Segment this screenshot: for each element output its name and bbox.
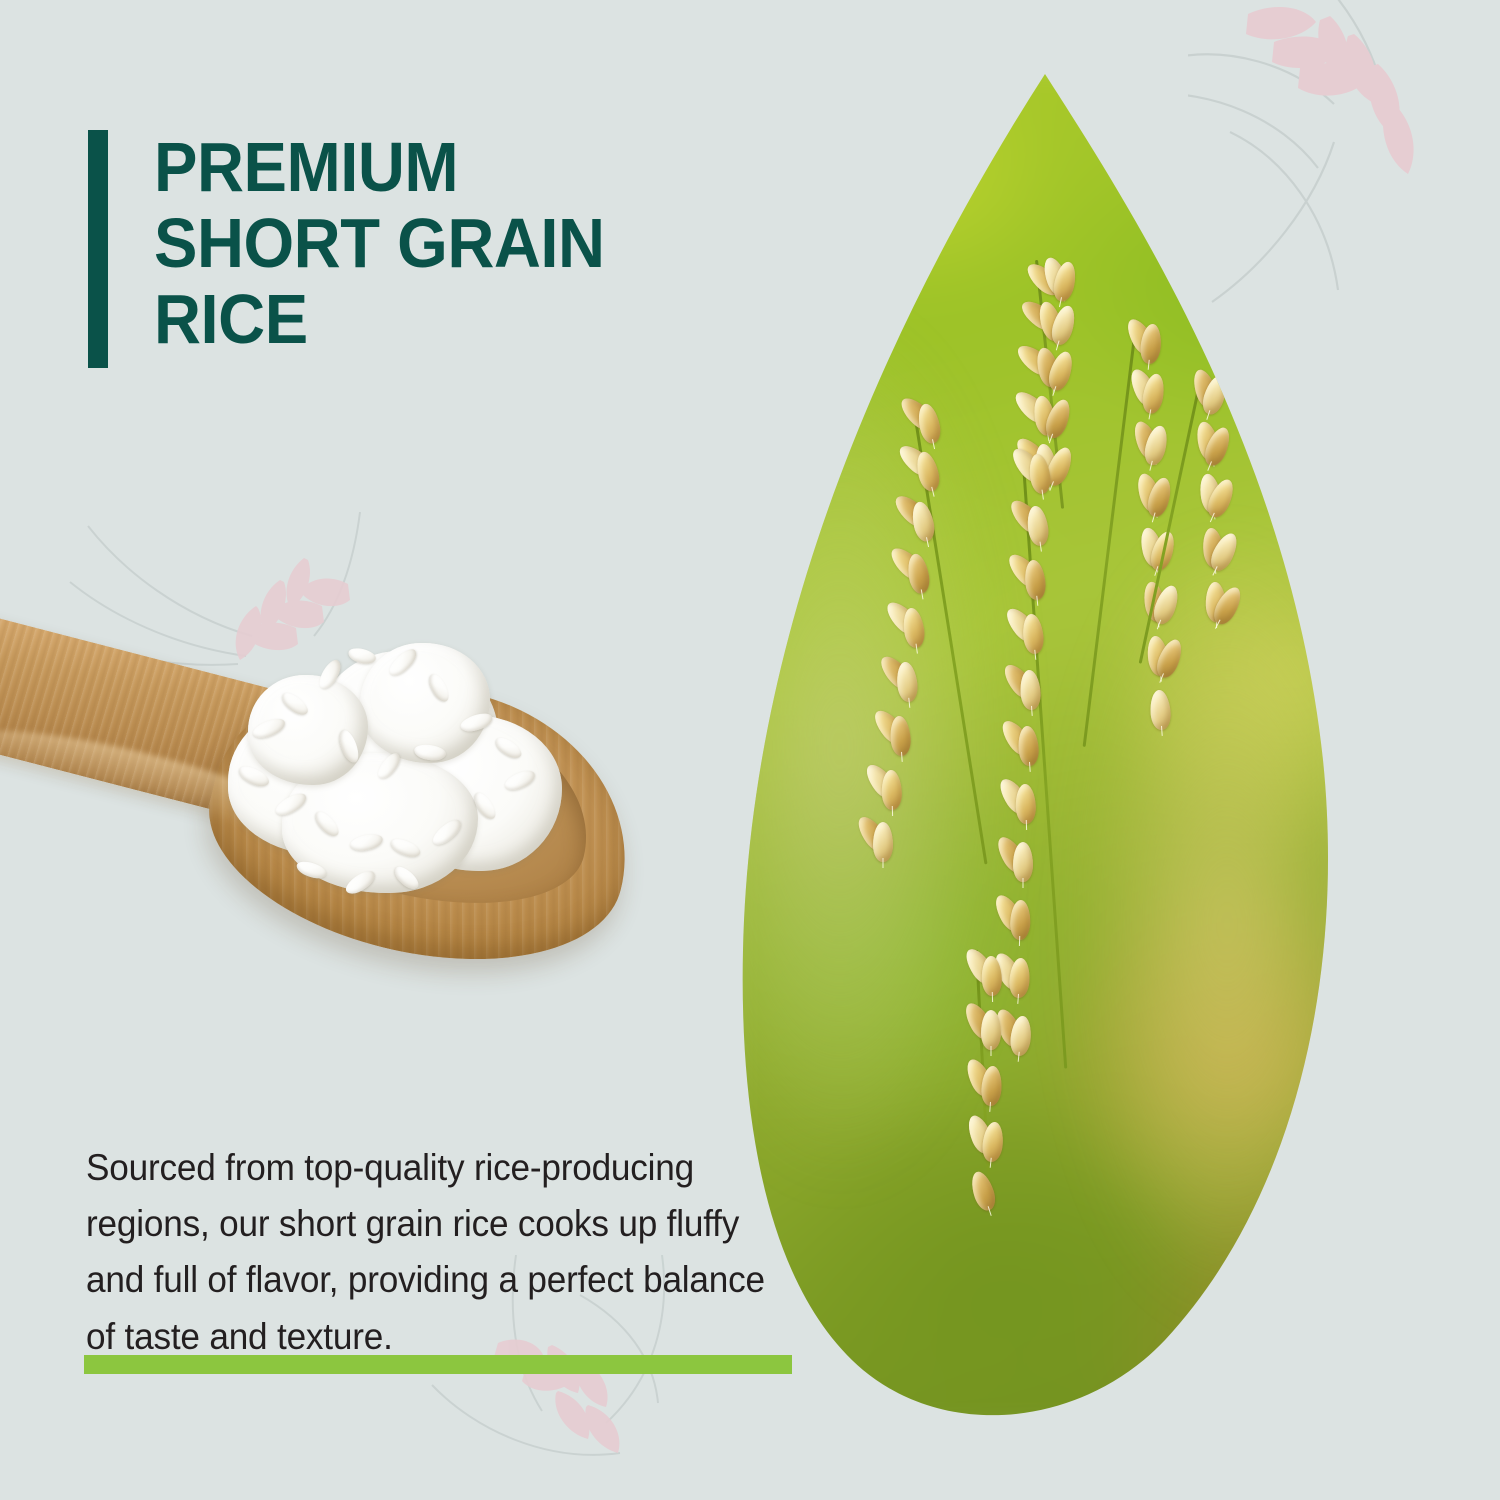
headline-accent-bar [88, 130, 108, 368]
cooked-rice-pile [208, 619, 580, 903]
hero-photo [735, 70, 1335, 1425]
headline-block: PREMIUM SHORT GRAIN RICE [88, 130, 639, 368]
hero-photo-clip [735, 70, 1335, 1425]
product-poster: PREMIUM SHORT GRAIN RICE Sourced from to… [0, 0, 1500, 1500]
field-light-wash-right [1071, 531, 1335, 1317]
description-text: Sourced from top-quality rice-producing … [86, 1140, 780, 1365]
field-light-wash-left [735, 314, 1005, 1181]
page-title: PREMIUM SHORT GRAIN RICE [154, 130, 605, 358]
green-divider-rule [84, 1355, 792, 1374]
wooden-spoon-with-rice [0, 565, 680, 985]
